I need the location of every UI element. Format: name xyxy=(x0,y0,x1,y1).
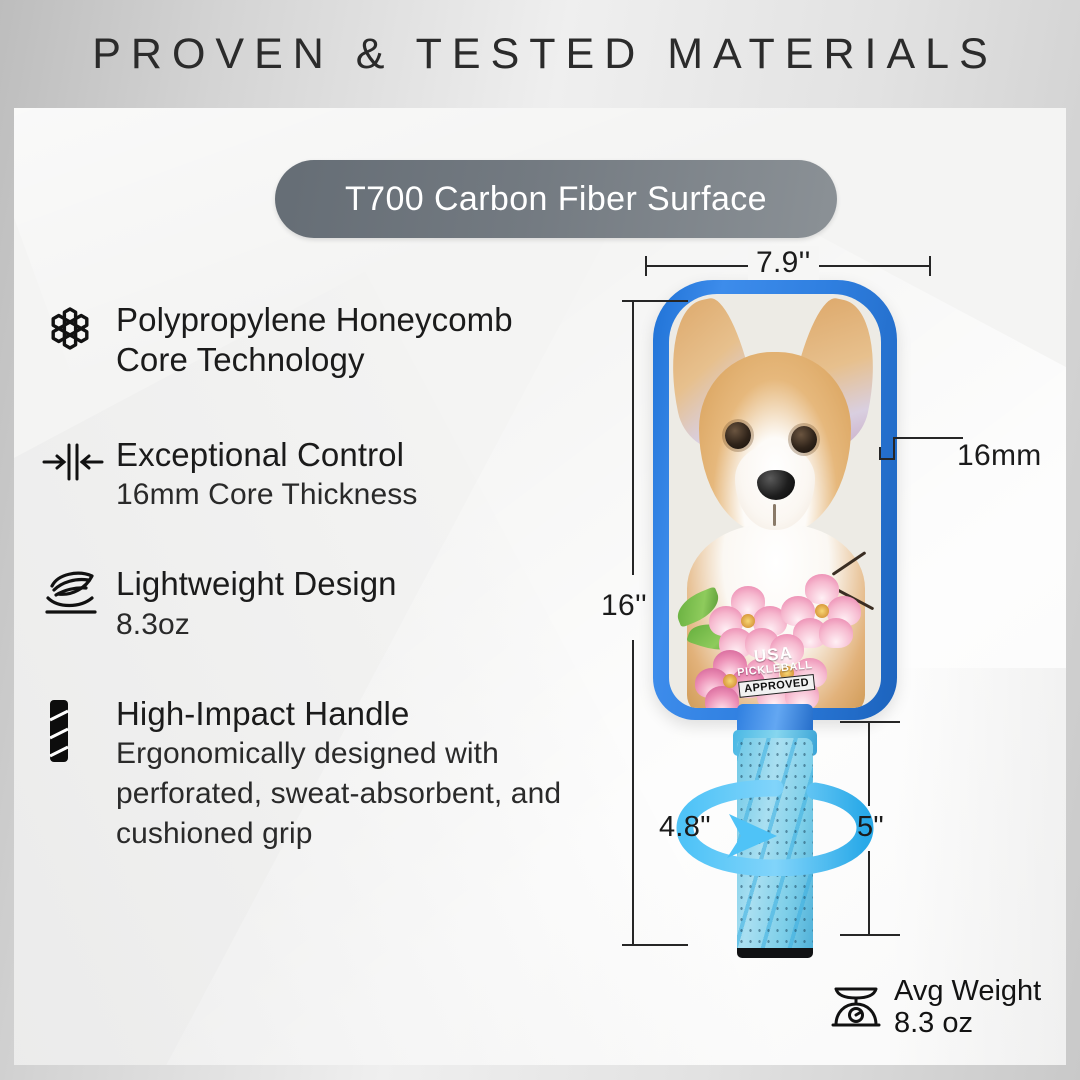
width-dimension-cap-right xyxy=(929,256,931,276)
header-band: PROVEN & TESTED MATERIALS xyxy=(0,0,1080,108)
feature-title: Exceptional Control xyxy=(116,435,582,475)
width-dimension-label: 7.9'' xyxy=(748,246,819,280)
paddle-illustration: USA PICKLEBALL APPROVED xyxy=(645,280,905,950)
paddle-face-artwork: USA PICKLEBALL APPROVED xyxy=(669,294,881,708)
thickness-callout-tick-bottom xyxy=(879,458,895,460)
feature-item-high-impact-handle: High-Impact Handle Ergonomically designe… xyxy=(42,694,582,853)
handle-dimension-cap-bottom xyxy=(840,934,900,936)
thickness-arrows-icon xyxy=(42,435,116,515)
length-dimension-label: 16'' xyxy=(601,589,647,623)
handle-dimension-line-upper xyxy=(868,721,870,806)
thickness-callout-label: 16mm xyxy=(957,439,1042,473)
paddle-head-edge-guard: USA PICKLEBALL APPROVED xyxy=(653,280,897,720)
corgi-eye-left xyxy=(725,422,751,449)
feather-icon xyxy=(42,564,116,644)
feature-item-exceptional-control: Exceptional Control 16mm Core Thickness xyxy=(42,435,582,515)
feature-title: Lightweight Design xyxy=(116,564,582,604)
feature-text-block: Polypropylene Honeycomb Core Technology xyxy=(116,300,582,381)
avg-weight-title: Avg Weight xyxy=(894,975,1041,1007)
kitchen-scale-icon xyxy=(828,977,884,1038)
handle-dimension-line-lower xyxy=(868,851,870,935)
feature-title: High-Impact Handle xyxy=(116,694,582,734)
handle-dimension-cap-top xyxy=(840,721,900,723)
length-dimension-line-lower xyxy=(632,640,634,945)
length-dimension-line-upper xyxy=(632,300,634,575)
corgi-mouth xyxy=(773,504,776,526)
grip-circumference-label: 4.8" xyxy=(659,811,711,844)
feature-text-block: Lightweight Design 8.3oz xyxy=(116,564,582,644)
feature-subtitle: Ergonomically designed with perforated, … xyxy=(116,734,582,853)
thickness-callout-leader xyxy=(893,437,963,439)
page-title: PROVEN & TESTED MATERIALS xyxy=(82,30,998,79)
feature-list: Polypropylene Honeycomb Core Technology xyxy=(42,300,582,853)
handle-length-label: 5" xyxy=(857,811,884,844)
feature-text-block: Exceptional Control 16mm Core Thickness xyxy=(116,435,582,515)
avg-weight-block: Avg Weight 8.3 oz xyxy=(828,975,1041,1040)
feature-subtitle: 8.3oz xyxy=(116,605,582,645)
length-dimension-cap-top xyxy=(622,300,688,302)
avg-weight-value: 8.3 oz xyxy=(894,1007,1041,1039)
thickness-callout-tick-left xyxy=(879,447,881,459)
surface-material-badge: T700 Carbon Fiber Surface xyxy=(275,160,837,238)
surface-material-badge-label: T700 Carbon Fiber Surface xyxy=(345,180,767,219)
length-dimension-cap-bottom xyxy=(622,944,688,946)
avg-weight-text-block: Avg Weight 8.3 oz xyxy=(894,975,1041,1040)
grip-butt-cap xyxy=(737,948,813,958)
feature-subtitle: 16mm Core Thickness xyxy=(116,475,582,515)
honeycomb-icon xyxy=(42,300,116,381)
feature-item-honeycomb-core: Polypropylene Honeycomb Core Technology xyxy=(42,300,582,381)
usa-pickleball-approved-badge: USA PICKLEBALL APPROVED xyxy=(727,641,824,699)
thickness-callout-tick-right xyxy=(893,437,895,459)
infographic-canvas: PROVEN & TESTED MATERIALS T700 Carbon Fi… xyxy=(0,0,1080,1080)
feature-text-block: High-Impact Handle Ergonomically designe… xyxy=(116,694,582,853)
feature-title: Polypropylene Honeycomb Core Technology xyxy=(116,300,582,381)
corgi-eye-right xyxy=(791,426,817,453)
feature-item-lightweight-design: Lightweight Design 8.3oz xyxy=(42,564,582,644)
width-dimension-cap-left xyxy=(645,256,647,276)
grip-handle-icon xyxy=(42,694,116,853)
